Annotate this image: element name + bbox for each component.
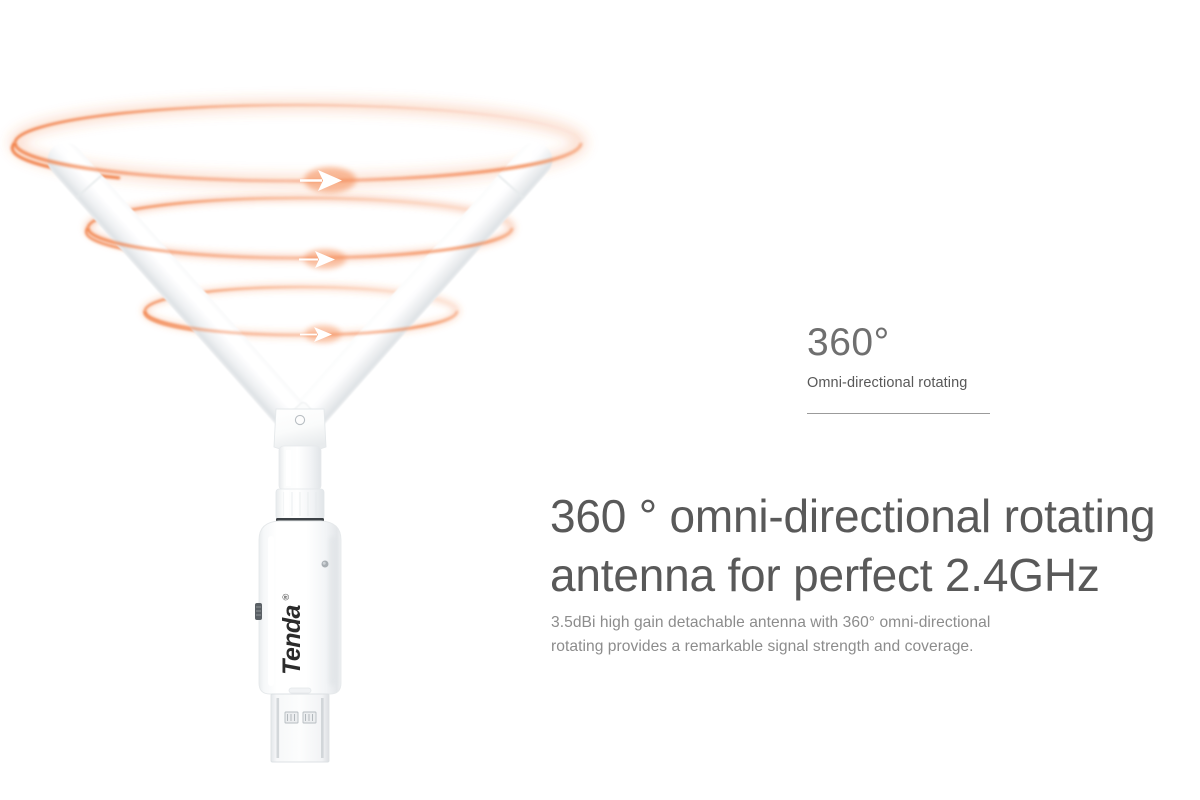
badge-divider [807,413,990,414]
led-indicator-icon [322,561,329,568]
headline-line-1: 360 ° omni-directional rotating [550,487,1198,546]
feature-description: 3.5dBi high gain detachable antenna with… [551,611,1111,658]
brand-logo: Tenda ® [278,593,306,675]
rotation-arrow-middle-icon [299,249,346,269]
rotation-ring-front-arcs [15,143,581,335]
description-line-1: 3.5dBi high gain detachable antenna with… [551,611,1111,635]
description-line-2: rotating provides a remarkable signal st… [551,635,1111,659]
page-title: 360 ° omni-directional rotating antenna … [550,487,1198,605]
usb-a-connector-icon [271,688,329,762]
wps-button-icon [255,603,262,620]
info-panel: 360° Omni-directional rotating 360 ° omn… [548,0,1200,800]
rotation-badge: 360° Omni-directional rotating [807,323,1047,414]
badge-caption: Omni-directional rotating [807,375,1047,391]
brand-label: Tenda [278,604,306,674]
antenna-threaded-connector-icon [276,446,324,522]
registered-mark: ® [281,593,291,600]
feature-banner: Tenda ® [0,0,1200,800]
rotation-arrow-top-icon [300,167,356,193]
headline-line-2: antenna for perfect 2.4GHz [550,546,1198,605]
product-illustration: Tenda ® [0,0,620,800]
badge-value: 360° [807,323,1047,362]
rotation-arrow-bottom-icon [300,325,341,343]
